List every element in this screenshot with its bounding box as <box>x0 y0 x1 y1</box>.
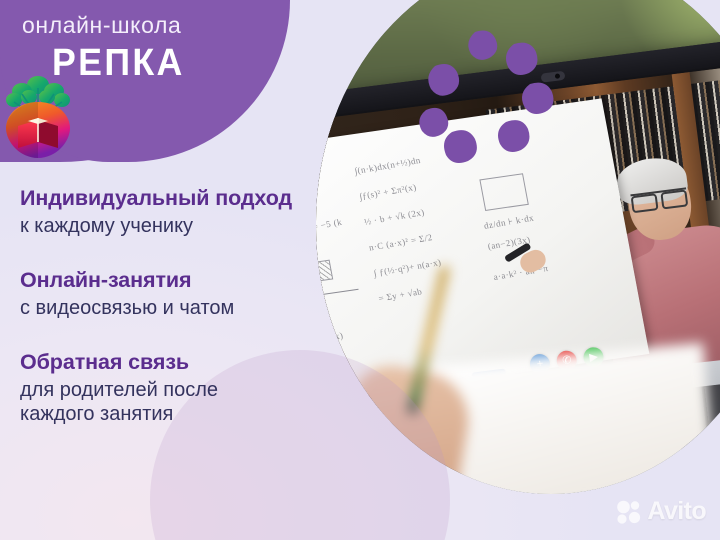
feature-item: Индивидуальный подход к каждому ученику <box>20 186 390 238</box>
decorative-dot-ring <box>418 28 568 168</box>
feature-subtitle: к каждому ученику <box>20 214 390 238</box>
whiteboard-formula: ∫(n·k)dx(n+½)dn <box>354 155 422 176</box>
feature-item: Онлайн-занятия с видеосвязью и чатом <box>20 268 390 320</box>
brand-block: онлайн-школа РЕПКА <box>0 0 300 170</box>
feature-title: Онлайн-занятия <box>20 268 390 292</box>
feature-subtitle: с видеосвязью и чатом <box>20 296 390 320</box>
avito-watermark: Avito <box>616 497 706 526</box>
feature-title: Обратная связь <box>20 350 390 374</box>
turnip-book-logo-icon <box>2 72 74 158</box>
feature-item: Обратная связь для родителей после каждо… <box>20 350 390 426</box>
avito-wordmark: Avito <box>647 497 706 526</box>
feature-subtitle: для родителей после каждого занятия <box>20 378 390 426</box>
brand-tagline: онлайн-школа <box>22 12 181 39</box>
promo-poster: ∫(n·k)dx(n+½)dn ∫ƒ(s)² + Σπ²(x) ½ · b + … <box>0 0 720 540</box>
avito-logo-dots-icon <box>616 500 642 524</box>
whiteboard-formula: dz/dn ⊦ k·dx <box>483 212 535 231</box>
feature-list: Индивидуальный подход к каждому ученику … <box>20 186 390 426</box>
whiteboard-graph-small <box>479 173 528 211</box>
feature-title: Индивидуальный подход <box>20 186 390 210</box>
